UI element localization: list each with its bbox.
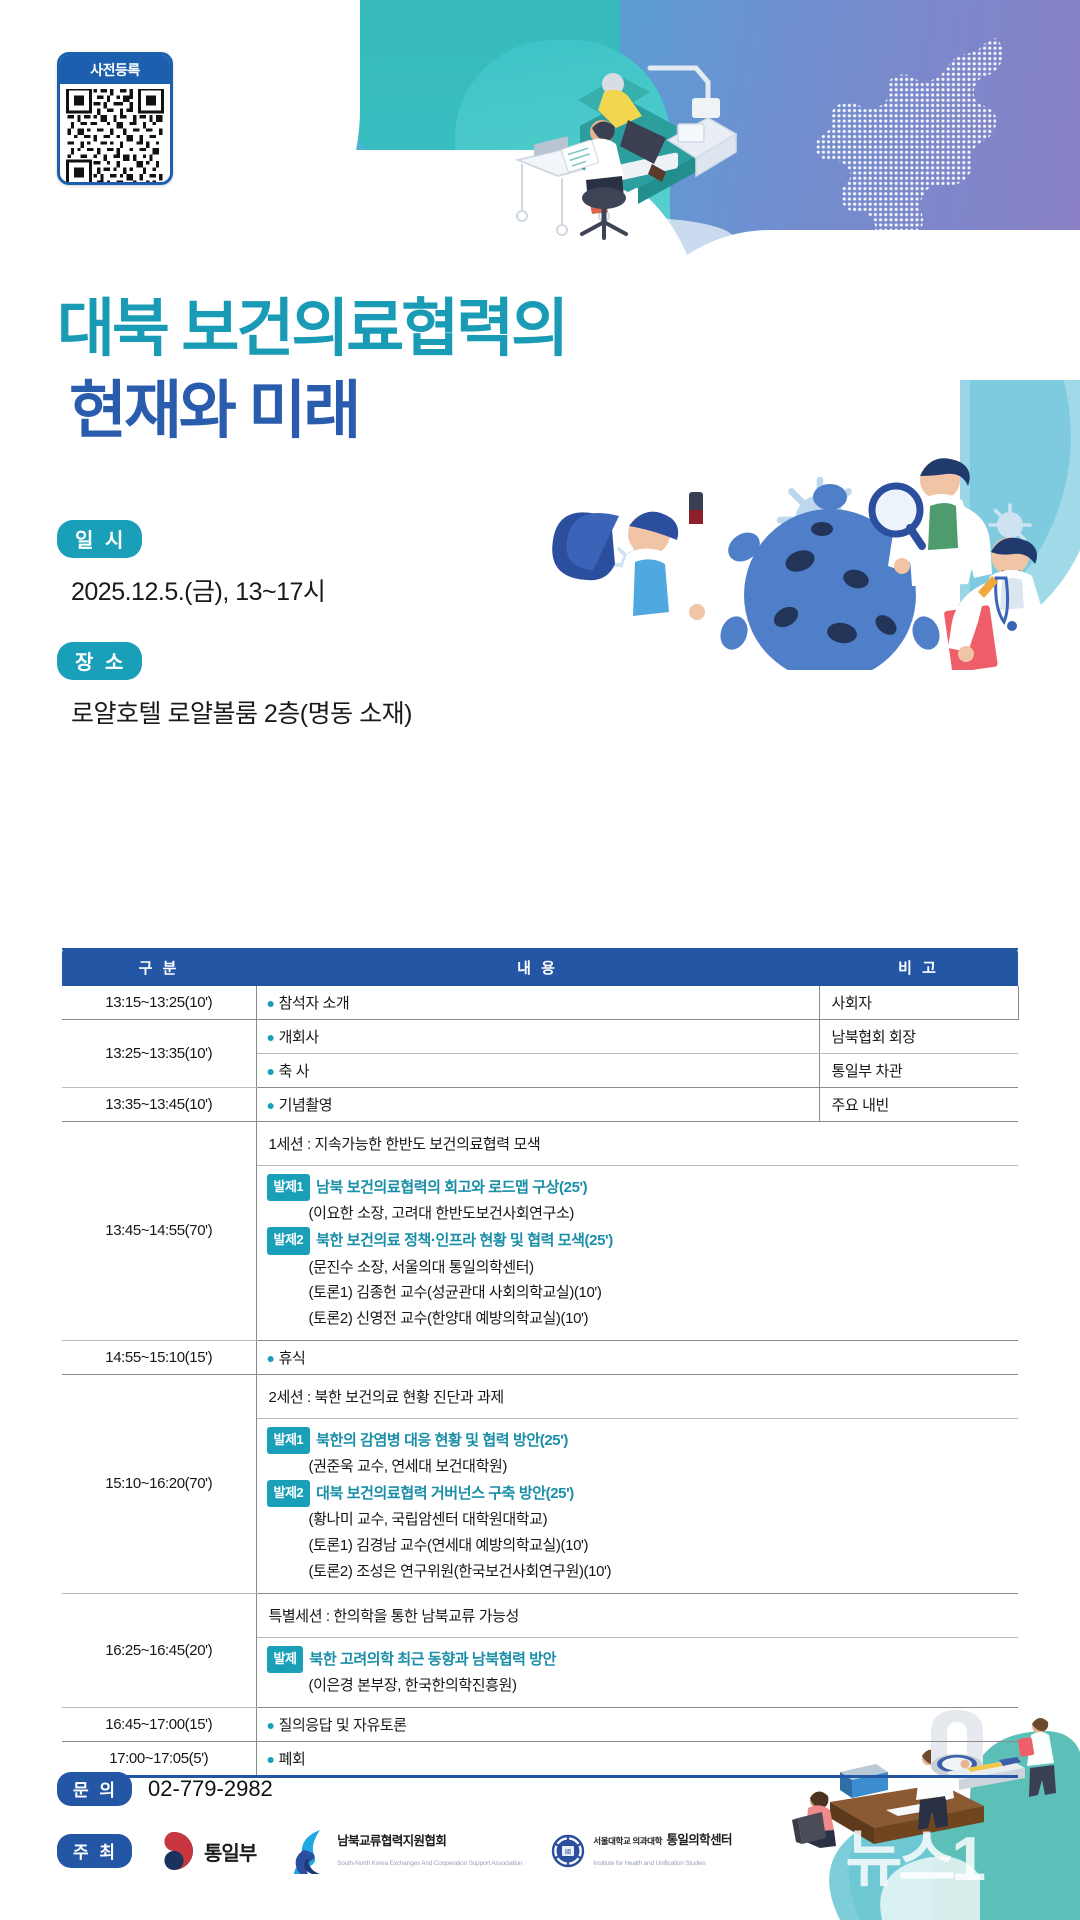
- agenda-table: 구 분 내 용 비 고 13:15~13:25(10') ●참석자 소개 사회자…: [62, 948, 1019, 1778]
- presentation-badge: 발제: [267, 1646, 304, 1673]
- logo-ministry-of-unification: 통일부: [152, 1829, 256, 1873]
- row-content: ●질의응답 및 자유토론: [256, 1707, 1018, 1741]
- presentation-topic: 북한 고려의학 최근 동향과 남북협력 방안: [309, 1651, 556, 1668]
- presentation-topic: 북한 보건의료 정책·인프라 현황 및 협력 모색(25'): [316, 1232, 613, 1249]
- row-content: ●개회사: [256, 1020, 819, 1054]
- row-time: 16:25~16:45(20'): [62, 1593, 256, 1707]
- presentation-topic: 남북 보건의료협력의 회고와 로드맵 구상(25'): [316, 1179, 587, 1196]
- contact-label-badge: 문 의: [57, 1772, 132, 1806]
- session-title-row: 15:10~16:20(70') 2세션 : 북한 보건의료 현황 진단과 과제: [62, 1374, 1018, 1418]
- place-value: 로얄호텔 로얄볼룸 2층(명동 소재): [71, 694, 412, 730]
- presentation-item: 발제1남북 보건의료협력의 회고와 로드맵 구상(25'): [267, 1174, 1011, 1201]
- session-body: 발제1남북 보건의료협력의 회고와 로드맵 구상(25') (이요한 소장, 고…: [256, 1166, 1018, 1341]
- row-remark: 남북협회 회장: [819, 1020, 1018, 1054]
- presenter-line: (권준욱 교수, 연세대 보건대학원): [267, 1454, 1011, 1480]
- presentation-item: 발제2대북 보건의료협력 거버넌스 구축 방안(25'): [267, 1480, 1011, 1507]
- bullet-icon: ●: [267, 1063, 275, 1079]
- logo-label-snu-center: 통일의학센터: [666, 1833, 731, 1847]
- svg-text:國: 國: [565, 1849, 571, 1856]
- row-time: 14:55~15:10(15'): [62, 1340, 256, 1374]
- presentation-topic: 북한의 감염병 대응 현황 및 협력 방안(25'): [316, 1432, 568, 1449]
- title-line-2: 현재와 미래: [57, 374, 566, 448]
- row-time: 13:25~13:35(10'): [62, 1020, 256, 1088]
- session-body: 발제북한 고려의학 최근 동향과 남북협력 방안 (이은경 본부장, 한국한의학…: [256, 1637, 1018, 1707]
- row-content-text: 기념촬영: [279, 1097, 333, 1114]
- row-time: 13:15~13:25(10'): [62, 986, 256, 1020]
- logo-prefix-snu: 서울대학교 의과대학: [593, 1836, 662, 1846]
- date-label-badge: 일 시: [57, 520, 142, 558]
- session-title: 1세션 : 지속가능한 한반도 보건의료협력 모색: [256, 1122, 1018, 1166]
- column-header-content: 내 용: [256, 949, 819, 986]
- row-remark: 주요 내빈: [819, 1088, 1018, 1122]
- dotted-korean-peninsula-icon: [800, 30, 1050, 320]
- discussant-line: (토론2) 조성은 연구위원(한국보건사회연구원)(10'): [267, 1559, 1011, 1585]
- presentation-badge: 발제1: [267, 1427, 311, 1454]
- table-header-row: 구 분 내 용 비 고: [62, 949, 1018, 986]
- poster-title: 대북 보건의료협력의 현재와 미래: [57, 292, 566, 449]
- row-content-text: 축 사: [279, 1063, 310, 1080]
- session-title-text: 1세션 : 지속가능한 한반도 보건의료협력 모색: [267, 1128, 1011, 1159]
- presenter-line: (문진수 소장, 서울의대 통일의학센터): [267, 1255, 1011, 1281]
- title-line-1: 대북 보건의료협력의: [57, 292, 566, 366]
- table-row: 14:55~15:10(15') ●휴식: [62, 1340, 1018, 1374]
- logo-exchange-association: 남북교류협력지원협회 South-North Korea Exchanges A…: [290, 1828, 522, 1874]
- presentation-item: 발제1북한의 감염병 대응 현황 및 협력 방안(25'): [267, 1427, 1011, 1454]
- bullet-icon: ●: [267, 1029, 275, 1045]
- logo-sub-association: South-North Korea Exchanges And Cooperat…: [337, 1860, 522, 1867]
- presenter-line: (황나미 교수, 국립암센터 대학원대학교): [267, 1507, 1011, 1533]
- row-content-text: 개회사: [279, 1029, 319, 1046]
- logo-sub-snu: Institute for Health and Unification Stu…: [593, 1860, 705, 1867]
- place-label-badge: 장 소: [57, 642, 142, 680]
- table-row: 13:35~13:45(10') ●기념촬영 주요 내빈: [62, 1088, 1018, 1122]
- host-label-badge: 주 최: [57, 1834, 132, 1868]
- row-content: ●휴식: [256, 1340, 1018, 1374]
- session-body: 발제1북한의 감염병 대응 현황 및 협력 방안(25') (권준욱 교수, 연…: [256, 1418, 1018, 1593]
- logo-label-association: 남북교류협력지원협회: [337, 1834, 446, 1848]
- discussant-line: (토론1) 김종헌 교수(성균관대 사회의학교실)(10'): [267, 1280, 1011, 1306]
- column-header-category: 구 분: [62, 949, 256, 986]
- row-content: ●축 사: [256, 1054, 819, 1088]
- column-header-remark: 비 고: [819, 949, 1018, 986]
- row-time: 13:45~14:55(70'): [62, 1122, 256, 1341]
- inter-korean-exchange-logo-icon: [290, 1828, 330, 1874]
- event-info: 일 시 2025.12.5.(금), 13~17시 장 소 로얄호텔 로얄볼룸 …: [57, 520, 412, 730]
- agenda-table-wrapper: 구 분 내 용 비 고 13:15~13:25(10') ●참석자 소개 사회자…: [62, 948, 1018, 1778]
- date-value: 2025.12.5.(금), 13~17시: [71, 572, 412, 608]
- presentation-badge: 발제1: [267, 1174, 311, 1201]
- presentation-badge: 발제2: [267, 1227, 311, 1254]
- presentation-item: 발제북한 고려의학 최근 동향과 남북협력 방안: [267, 1646, 1011, 1673]
- session-title-text: 2세션 : 북한 보건의료 현황 진단과 과제: [267, 1381, 1011, 1412]
- session-title-row: 16:25~16:45(20') 특별세션 : 한의학을 통한 남북교류 가능성: [62, 1593, 1018, 1637]
- presenter-line: (이은경 본부장, 한국한의학진흥원): [267, 1673, 1011, 1699]
- row-time: 13:35~13:45(10'): [62, 1088, 256, 1122]
- session-title: 특별세션 : 한의학을 통한 남북교류 가능성: [256, 1593, 1018, 1637]
- bullet-icon: ●: [267, 1751, 275, 1767]
- row-content: ●기념촬영: [256, 1088, 819, 1122]
- qr-card-header: 사전등록: [60, 55, 170, 84]
- row-content-text: 질의응답 및 자유토론: [279, 1717, 407, 1734]
- bullet-icon: ●: [267, 1097, 275, 1113]
- session-title-text: 특별세션 : 한의학을 통한 남북교류 가능성: [267, 1600, 1011, 1631]
- poster-footer: 문 의 02-779-2982 주 최 통일부 남북교류협력지원협회: [57, 1772, 732, 1874]
- snu-medicine-seal-icon: 國: [550, 1831, 586, 1871]
- session-title: 2세션 : 북한 보건의료 현황 진단과 과제: [256, 1374, 1018, 1418]
- row-time: 15:10~16:20(70'): [62, 1374, 256, 1593]
- pre-registration-qr-card[interactable]: 사전등록: [57, 52, 173, 185]
- logo-label-ministry: 통일부: [204, 1837, 256, 1866]
- row-remark: 사회자: [819, 986, 1018, 1020]
- bullet-icon: ●: [267, 995, 275, 1011]
- qr-code-matrix: [66, 89, 164, 184]
- row-content-text: 휴식: [279, 1350, 306, 1367]
- row-content-text: 폐회: [279, 1751, 306, 1768]
- table-row: 13:25~13:35(10') ●개회사 남북협회 회장: [62, 1020, 1018, 1054]
- row-content: ●참석자 소개: [256, 986, 819, 1020]
- bullet-icon: ●: [267, 1350, 275, 1366]
- qr-code-icon[interactable]: [60, 84, 170, 185]
- logo-snu-unification-medicine: 國 서울대학교 의과대학 통일의학센터 Institute for Health…: [550, 1830, 732, 1872]
- korea-government-taegeuk-icon: [152, 1829, 196, 1873]
- discussant-line: (토론2) 신영전 교수(한양대 예방의학교실)(10'): [267, 1306, 1011, 1332]
- presentation-item: 발제2북한 보건의료 정책·인프라 현황 및 협력 모색(25'): [267, 1227, 1011, 1254]
- presentation-badge: 발제2: [267, 1480, 311, 1507]
- presenter-line: (이요한 소장, 고려대 한반도보건사회연구소): [267, 1201, 1011, 1227]
- table-row: 16:45~17:00(15') ●질의응답 및 자유토론: [62, 1707, 1018, 1741]
- presentation-topic: 대북 보건의료협력 거버넌스 구축 방안(25'): [316, 1485, 574, 1502]
- bullet-icon: ●: [267, 1717, 275, 1733]
- row-time: 16:45~17:00(15'): [62, 1707, 256, 1741]
- hospital-examination-illustration: [500, 40, 770, 270]
- news-watermark: 뉴스1: [845, 1808, 982, 1898]
- contact-phone[interactable]: 02-779-2982: [148, 1776, 273, 1802]
- row-remark: 통일부 차관: [819, 1054, 1018, 1088]
- session-title-row: 13:45~14:55(70') 1세션 : 지속가능한 한반도 보건의료협력 …: [62, 1122, 1018, 1166]
- discussant-line: (토론1) 김경남 교수(연세대 예방의학교실)(10'): [267, 1533, 1011, 1559]
- table-row: 13:15~13:25(10') ●참석자 소개 사회자: [62, 986, 1018, 1020]
- contact-row: 문 의 02-779-2982: [57, 1772, 732, 1806]
- host-row: 주 최 통일부 남북교류협력지원협회 South-North Korea Exc…: [57, 1828, 732, 1874]
- row-content-text: 참석자 소개: [279, 995, 350, 1012]
